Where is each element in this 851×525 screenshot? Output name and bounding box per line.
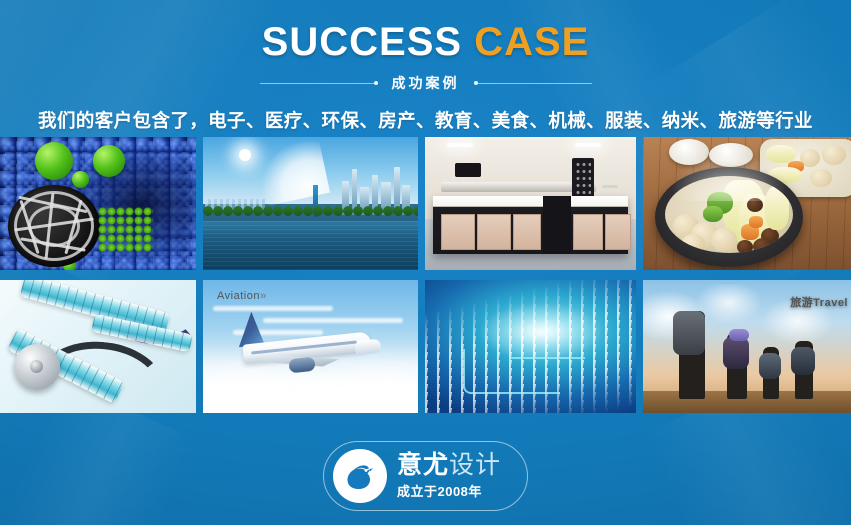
gallery-tile-electronics[interactable] [425, 280, 636, 413]
tree-line [203, 205, 418, 221]
established-year: 成立于2008年 [397, 485, 482, 498]
sleeping-roll [729, 329, 749, 341]
bird-logo-icon [333, 449, 387, 503]
page-title: SUCCESS CASE [0, 22, 851, 62]
backpack [791, 347, 815, 375]
banner-header: SUCCESS CASE 成功案例 我们的客户包含了，电子、医疗、环保、房产、教… [0, 0, 851, 133]
brand-text-block: 意尤设计 成立于2008年 [397, 453, 501, 498]
divider-dot-left [374, 81, 378, 85]
sun-icon [239, 149, 251, 161]
title-accent: CASE [474, 20, 589, 64]
circuit-trace [509, 357, 585, 359]
brand-name: 意尤设计 [397, 453, 501, 478]
subtitle-divider-row: 成功案例 [0, 73, 851, 93]
gallery-tile-food[interactable] [643, 137, 851, 270]
stethoscope-chestpiece-icon [14, 344, 60, 390]
trail-ground [643, 391, 851, 413]
gallery-tile-medical[interactable] [0, 280, 196, 413]
ceiling-light [447, 143, 473, 147]
lake-water [203, 221, 418, 270]
fullerene-cage-icon [8, 185, 100, 267]
gallery-tile-environment[interactable] [203, 137, 418, 270]
backpack [759, 353, 781, 379]
divider-line-right [474, 83, 592, 84]
brand-badge[interactable]: 意尤设计 成立于2008年 [323, 441, 528, 511]
title-primary: SUCCESS [262, 20, 462, 64]
faucet [602, 185, 618, 188]
gallery-tile-nanotech[interactable] [0, 137, 196, 270]
chevron-right-icon: ›› [260, 290, 265, 302]
subtitle-chinese: 成功案例 [386, 73, 466, 93]
aviation-overlay-label: Aviation›› [217, 290, 265, 302]
industry-lead-text: 我们的客户包含了，电子、医疗、环保、房产、教育、美食、机械、服装、纳米、旅游等行… [0, 107, 851, 133]
green-molecule [72, 171, 89, 188]
brand-name-strong: 意尤 [397, 451, 449, 479]
aviation-label-text: Aviation [217, 290, 260, 302]
backpack [723, 337, 749, 369]
brand-name-light: 设计 [449, 451, 501, 479]
backpack [673, 311, 705, 355]
divider-line-left [260, 83, 378, 84]
circuit-trace [463, 349, 560, 394]
shelf-box [455, 163, 481, 177]
success-case-banner: SUCCESS CASE 成功案例 我们的客户包含了，电子、医疗、环保、房产、教… [0, 0, 851, 525]
gallery-tile-laboratory[interactable] [425, 137, 636, 270]
gallery-tile-aviation[interactable]: Aviation›› [203, 280, 418, 413]
case-gallery-grid: Aviation›› 旅游Travel [0, 137, 851, 413]
lab-bench [433, 196, 628, 255]
divider-dot-right [474, 81, 478, 85]
green-molecule [35, 142, 73, 180]
steam [671, 153, 787, 201]
gallery-tile-travel[interactable]: 旅游Travel [643, 280, 851, 413]
ceiling-light [575, 143, 601, 147]
green-particle-cluster [98, 207, 153, 252]
travel-overlay-label: 旅游Travel [790, 294, 848, 310]
green-molecule [93, 145, 125, 177]
footer-brand-area: 意尤设计 成立于2008年 [0, 420, 851, 525]
